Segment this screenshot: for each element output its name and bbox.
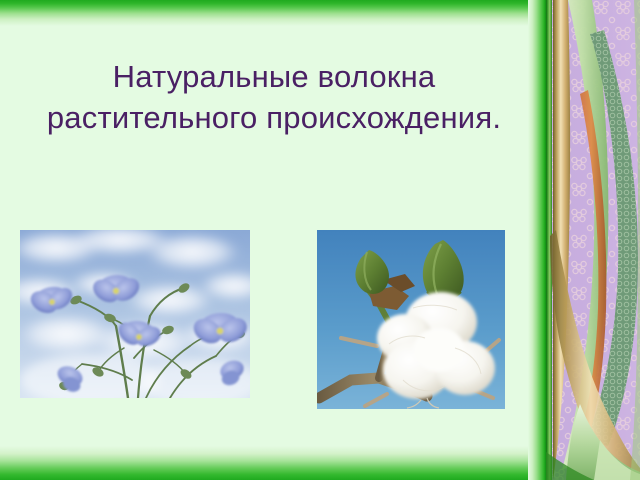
flax-photo-artwork (20, 230, 250, 398)
cotton-photo-artwork (317, 230, 505, 409)
presentation-slide: Натуральные волокна растительного происх… (0, 0, 640, 480)
top-green-gradient-band (0, 0, 546, 26)
ornamental-right-border (546, 0, 640, 480)
slide-content-panel: Натуральные волокна растительного происх… (0, 0, 546, 480)
slide-title: Натуральные волокна растительного происх… (36, 56, 512, 138)
border-artwork (546, 0, 640, 480)
flax-flowers-photo (20, 230, 250, 398)
right-green-gradient-band (528, 0, 546, 480)
bottom-green-gradient-band (0, 446, 546, 480)
cotton-boll-photo (317, 230, 505, 409)
